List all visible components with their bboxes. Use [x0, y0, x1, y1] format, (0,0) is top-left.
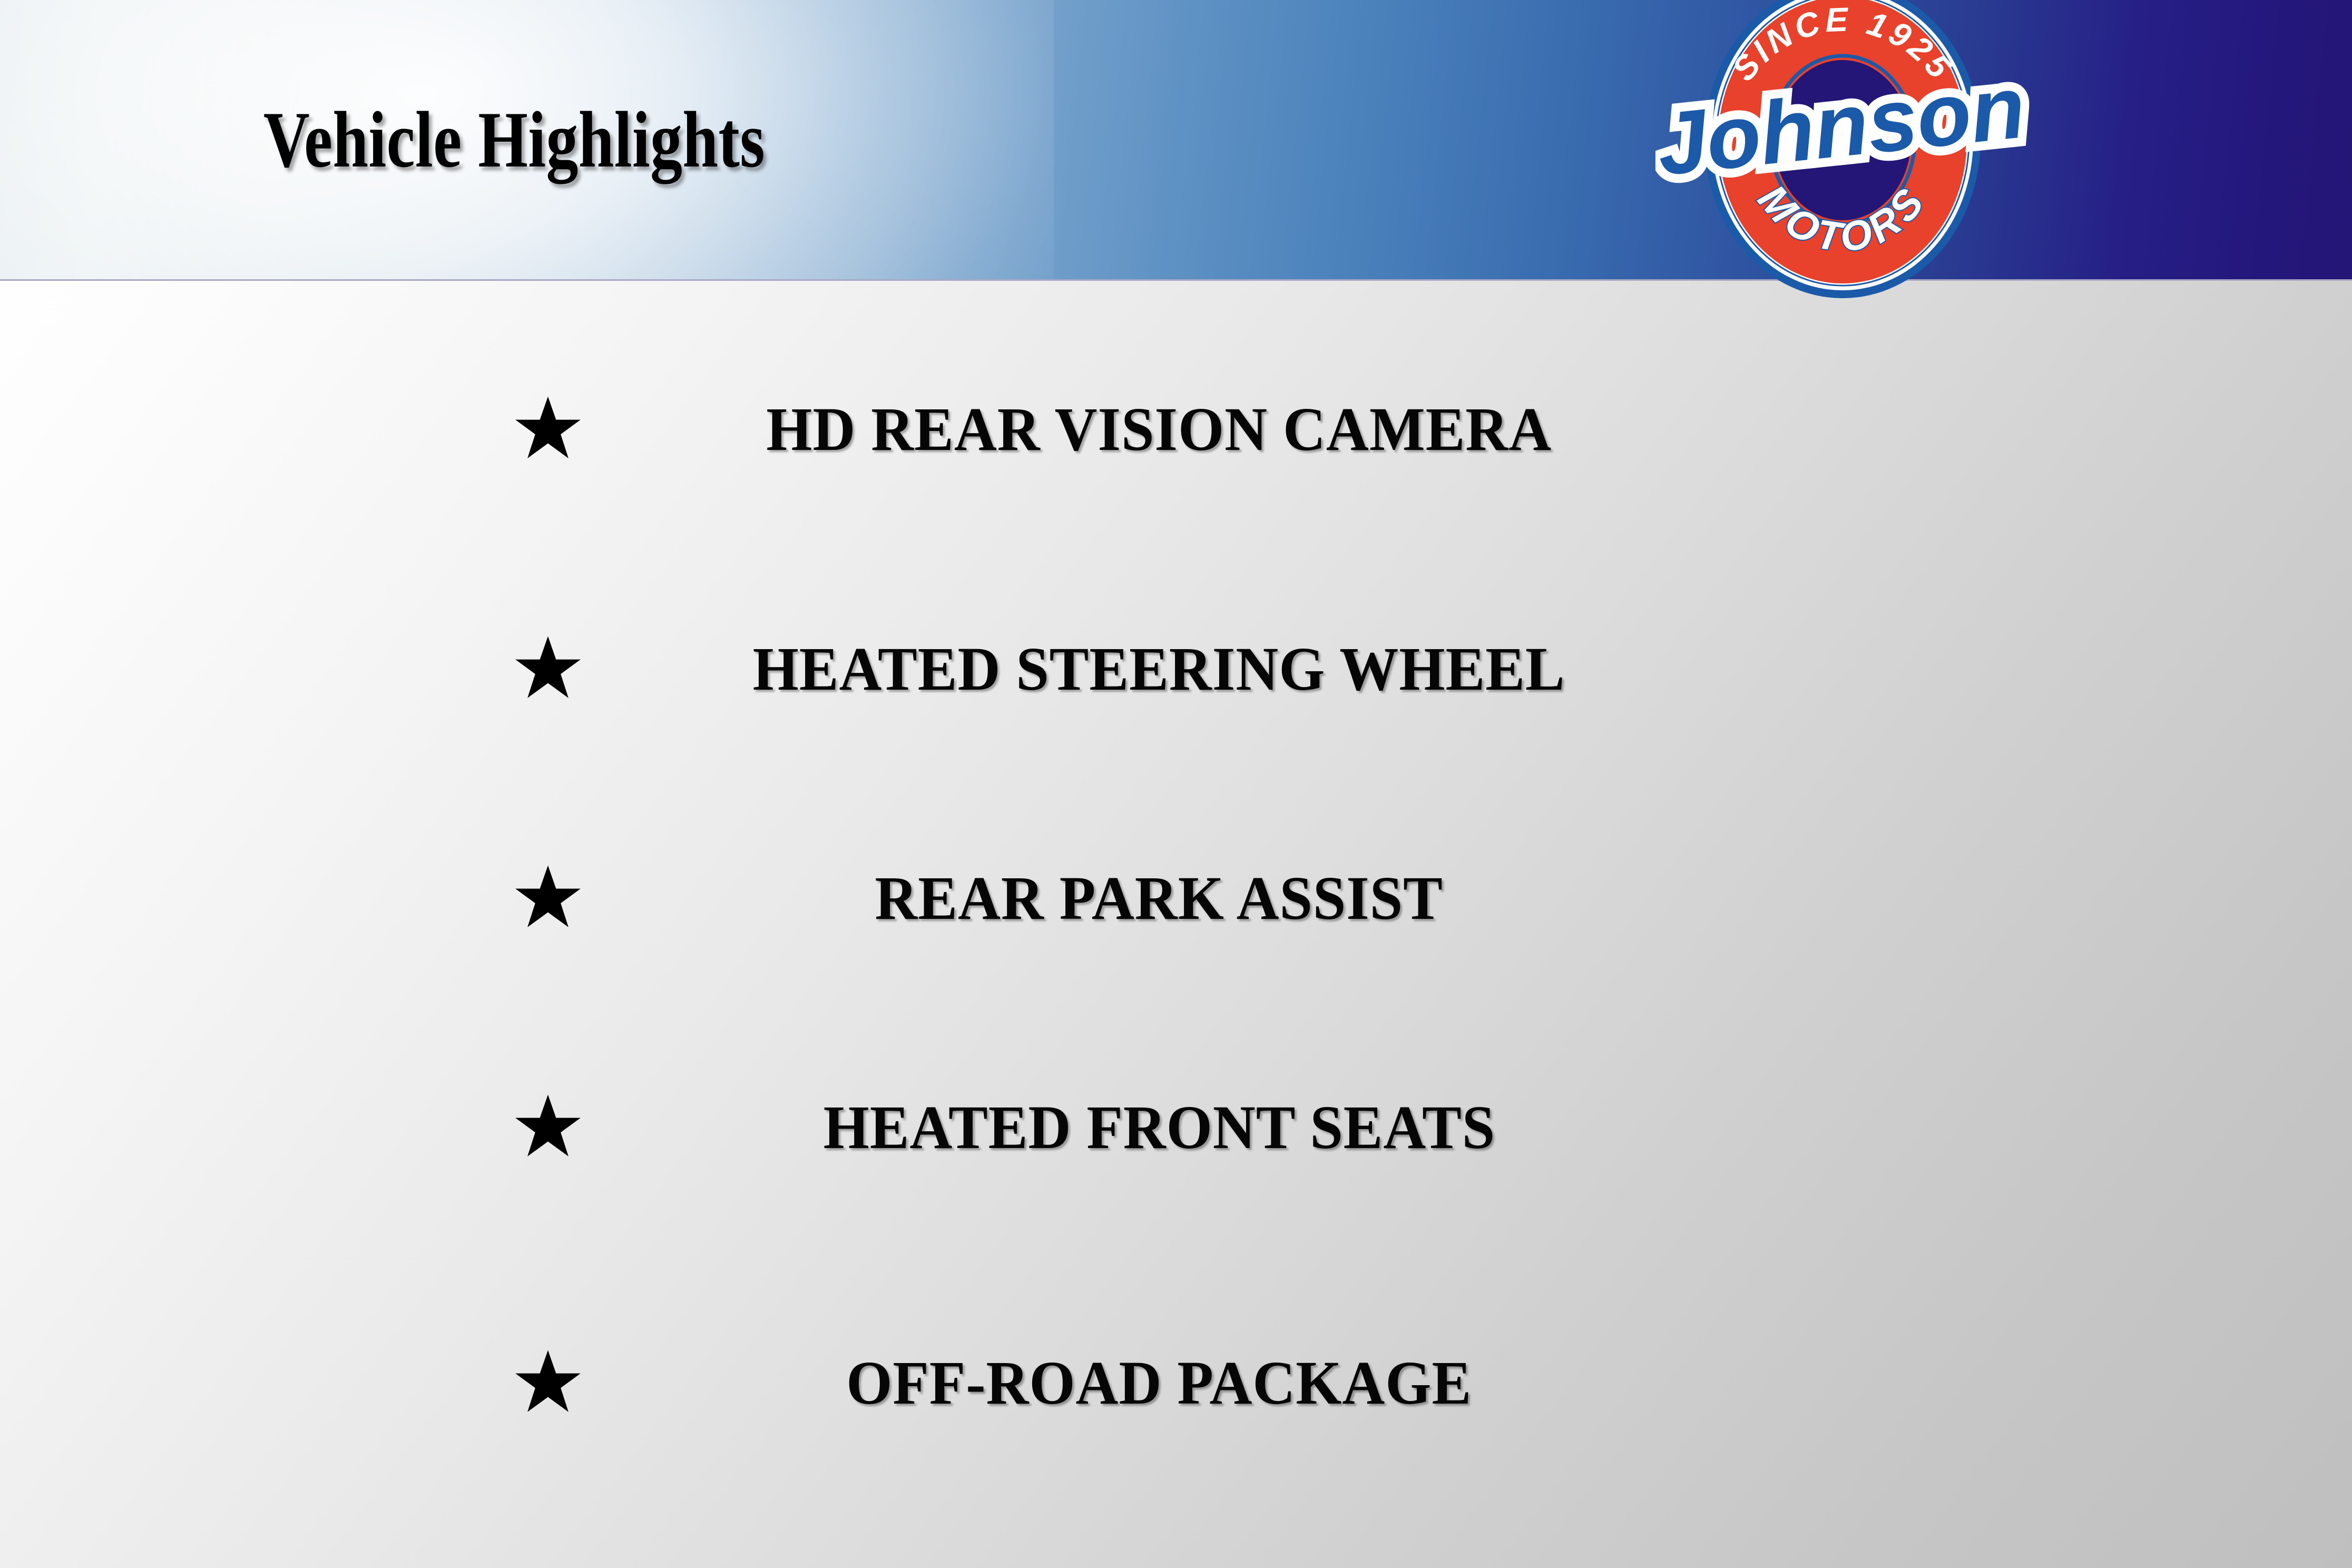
list-item-label-wrapper: HEATED STEERING WHEEL: [659, 627, 1660, 711]
list-item: HEATED FRONT SEATS: [0, 1067, 2352, 1188]
list-item: OFF-ROAD PACKAGE: [0, 1322, 2352, 1444]
list-item-label: HD REAR VISION CAMERA: [767, 394, 1552, 465]
vehicle-highlights-slide: Vehicle Highlights SINCE 1925: [0, 0, 2352, 1568]
list-item: HEATED STEERING WHEEL: [0, 609, 2352, 730]
page-title: Vehicle Highlights: [263, 0, 765, 279]
vehicle-highlights-list: HD REAR VISION CAMERA HEATED STEERING WH…: [0, 279, 2352, 1568]
star-icon: [514, 395, 582, 464]
list-item-label-wrapper: HEATED FRONT SEATS: [659, 1085, 1660, 1170]
list-item-label: REAR PARK ASSIST: [875, 863, 1443, 934]
list-item-label: HEATED FRONT SEATS: [823, 1092, 1495, 1163]
star-icon: [514, 1093, 582, 1162]
johnson-motors-logo: SINCE 1925 MOTORS Johnson Johnson: [1655, 0, 2030, 298]
list-item: REAR PARK ASSIST: [0, 838, 2352, 959]
star-icon: [514, 1349, 582, 1417]
star-icon: [514, 635, 582, 703]
star-icon: [514, 864, 582, 933]
list-item-label-wrapper: REAR PARK ASSIST: [659, 856, 1660, 940]
list-item-label-wrapper: HD REAR VISION CAMERA: [659, 387, 1660, 472]
list-item-label: OFF-ROAD PACKAGE: [847, 1347, 1472, 1419]
list-item-label: HEATED STEERING WHEEL: [753, 633, 1565, 705]
list-item-label-wrapper: OFF-ROAD PACKAGE: [659, 1341, 1660, 1425]
list-item: HD REAR VISION CAMERA: [0, 369, 2352, 490]
